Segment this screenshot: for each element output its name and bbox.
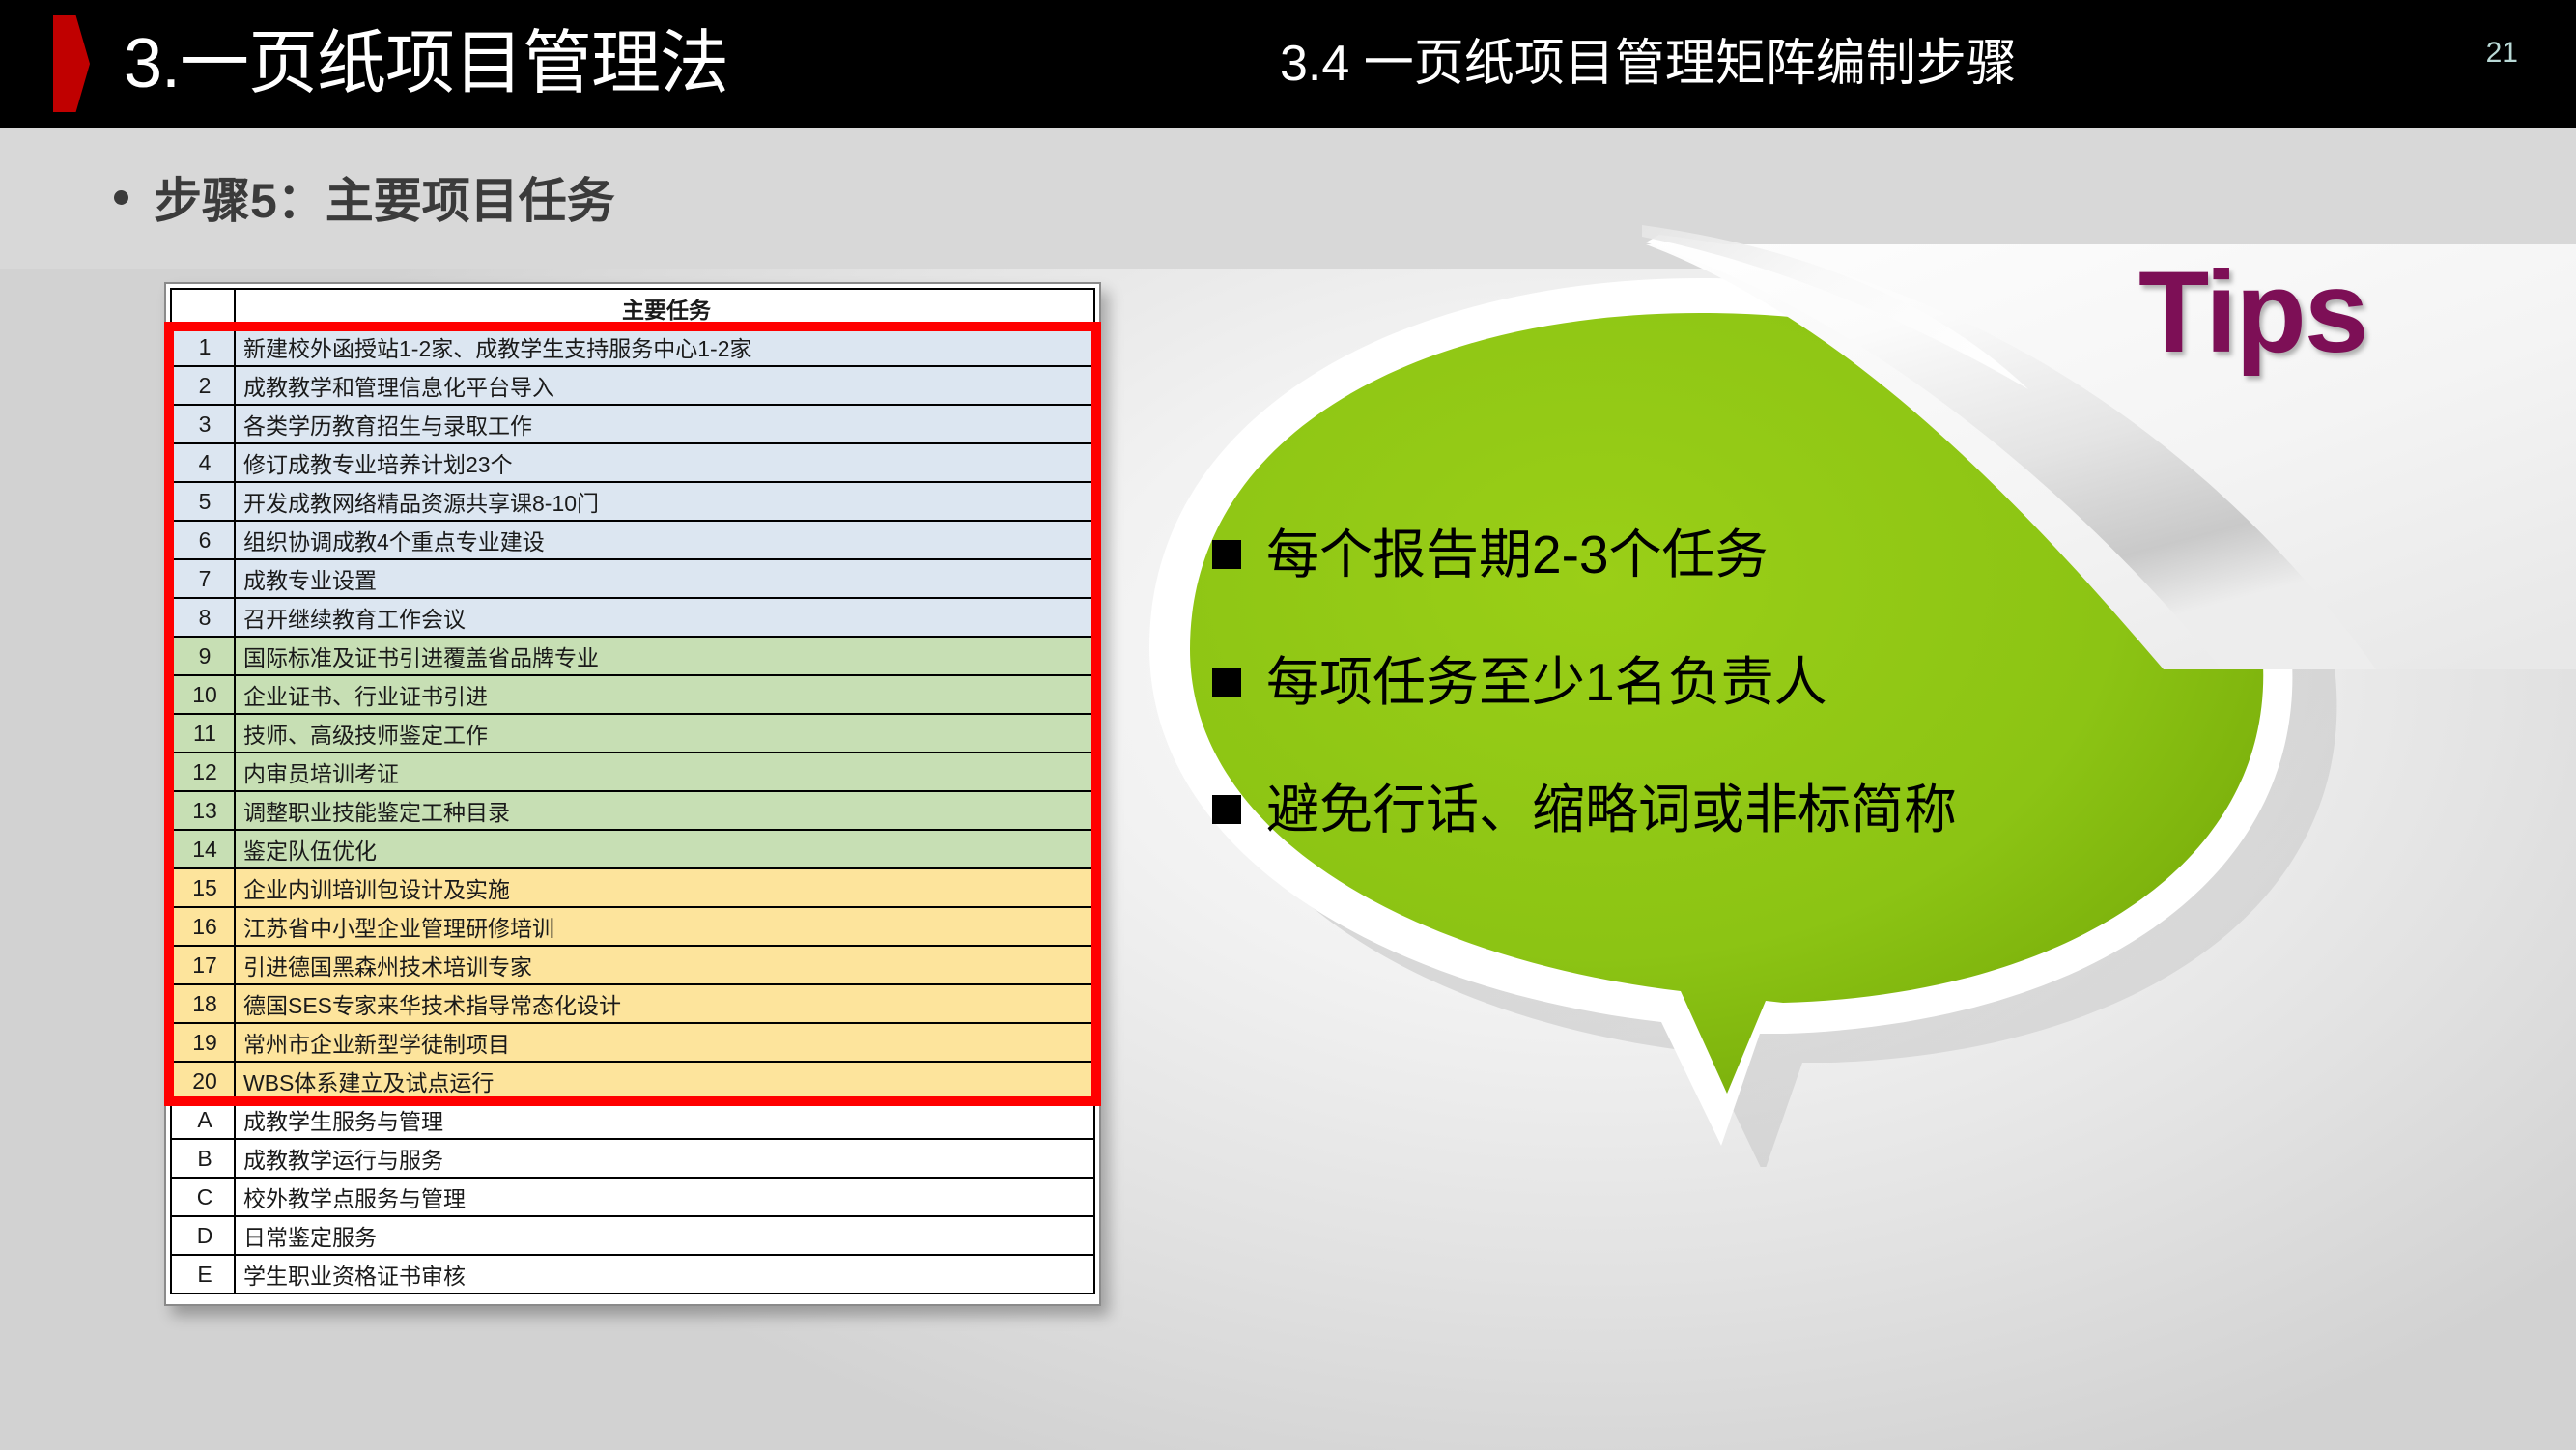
table-cell-task: 召开继续教育工作会议 <box>235 598 1094 637</box>
table-row: 7成教专业设置 <box>171 559 1094 598</box>
table-row: 11技师、高级技师鉴定工作 <box>171 714 1094 753</box>
table-row-index: 17 <box>171 946 235 984</box>
tips-list-item: 避免行话、缩略词或非标简称 <box>1212 746 2101 873</box>
table-cell-task: 校外教学点服务与管理 <box>235 1178 1094 1216</box>
section-title: 3.4 一页纸项目管理矩阵编制步骤 <box>1280 15 2017 112</box>
table-row-index: 10 <box>171 675 235 714</box>
table-row-index: A <box>171 1100 235 1139</box>
slide-header-bar: 3.一页纸项目管理法 3.4 一页纸项目管理矩阵编制步骤 21 <box>0 0 2576 128</box>
table-cell-task: 成教教学和管理信息化平台导入 <box>235 366 1094 405</box>
slide-canvas: 3.一页纸项目管理法 3.4 一页纸项目管理矩阵编制步骤 21 步骤5：主要项目… <box>0 0 2576 1450</box>
table-row-index: 13 <box>171 791 235 830</box>
table-row-index: 9 <box>171 637 235 675</box>
tips-item-label: 避免行话、缩略词或非标简称 <box>1266 746 1957 873</box>
table-row: 14鉴定队伍优化 <box>171 830 1094 868</box>
tips-list-item: 每项任务至少1名负责人 <box>1212 618 2101 746</box>
table-row: E学生职业资格证书审核 <box>171 1255 1094 1294</box>
table-row-index: C <box>171 1178 235 1216</box>
table-row-index: 8 <box>171 598 235 637</box>
table-cell-task: 修订成教专业培养计划23个 <box>235 443 1094 482</box>
table-cell-task: WBS体系建立及试点运行 <box>235 1062 1094 1100</box>
table-cell-task: 成教教学运行与服务 <box>235 1139 1094 1178</box>
table-cell-task: 成教专业设置 <box>235 559 1094 598</box>
table-cell-task: 各类学历教育招生与录取工作 <box>235 405 1094 443</box>
tips-speech-bubble: 每个报告期2-3个任务 每项任务至少1名负责人 避免行话、缩略词或非标简称 <box>1005 269 2386 1167</box>
table-corner-cell <box>171 289 235 327</box>
table-cell-task: 国际标准及证书引进覆盖省品牌专业 <box>235 637 1094 675</box>
table-cell-task: 内审员培训考证 <box>235 753 1094 791</box>
table-row: 2成教教学和管理信息化平台导入 <box>171 366 1094 405</box>
table-row: B成教教学运行与服务 <box>171 1139 1094 1178</box>
step-heading-label: 步骤5：主要项目任务 <box>154 162 615 232</box>
table-row-index: 6 <box>171 521 235 559</box>
table-row: 10企业证书、行业证书引进 <box>171 675 1094 714</box>
table-cell-task: 江苏省中小型企业管理研修培训 <box>235 907 1094 946</box>
table-row: 17引进德国黑森州技术培训专家 <box>171 946 1094 984</box>
table-row-index: 12 <box>171 753 235 791</box>
table-row: A成教学生服务与管理 <box>171 1100 1094 1139</box>
table-row-index: 15 <box>171 868 235 907</box>
table-row-index: 4 <box>171 443 235 482</box>
tips-list-item: 每个报告期2-3个任务 <box>1212 491 2101 618</box>
column-header-main-task: 主要任务 <box>235 289 1094 327</box>
filled-square-bullet-icon <box>1212 795 1241 824</box>
task-table-image: 主要任务 1新建校外函授站1-2家、成教学生支持服务中心1-2家2成教教学和管理… <box>164 282 1101 1306</box>
page-title: 3.一页纸项目管理法 <box>124 8 728 121</box>
table-row-index: B <box>171 1139 235 1178</box>
table-row-index: 3 <box>171 405 235 443</box>
table-row-index: 18 <box>171 984 235 1023</box>
filled-square-bullet-icon <box>1212 668 1241 697</box>
red-arrow-flag-icon <box>53 15 90 112</box>
table-row-index: 5 <box>171 482 235 521</box>
bullet-dot-icon <box>114 190 128 205</box>
table-row-index: E <box>171 1255 235 1294</box>
table-cell-task: 调整职业技能鉴定工种目录 <box>235 791 1094 830</box>
table-row: 13调整职业技能鉴定工种目录 <box>171 791 1094 830</box>
table-row: 15企业内训培训包设计及实施 <box>171 868 1094 907</box>
table-row: D日常鉴定服务 <box>171 1216 1094 1255</box>
tips-item-label: 每个报告期2-3个任务 <box>1266 491 1769 618</box>
table-row: 1新建校外函授站1-2家、成教学生支持服务中心1-2家 <box>171 327 1094 366</box>
table-row-index: 11 <box>171 714 235 753</box>
table-row-index: 20 <box>171 1062 235 1100</box>
table-row: 6组织协调成教4个重点专业建设 <box>171 521 1094 559</box>
table-cell-task: 德国SES专家来华技术指导常态化设计 <box>235 984 1094 1023</box>
table-row: 12内审员培训考证 <box>171 753 1094 791</box>
table-cell-task: 企业证书、行业证书引进 <box>235 675 1094 714</box>
table-row-index: 2 <box>171 366 235 405</box>
step-heading: 步骤5：主要项目任务 <box>114 162 615 232</box>
table-row: 9国际标准及证书引进覆盖省品牌专业 <box>171 637 1094 675</box>
table-row: 8召开继续教育工作会议 <box>171 598 1094 637</box>
table-row-index: D <box>171 1216 235 1255</box>
table-row: 20WBS体系建立及试点运行 <box>171 1062 1094 1100</box>
filled-square-bullet-icon <box>1212 540 1241 569</box>
page-number: 21 <box>2486 37 2518 70</box>
table-cell-task: 企业内训培训包设计及实施 <box>235 868 1094 907</box>
table-cell-task: 日常鉴定服务 <box>235 1216 1094 1255</box>
table-row: 3各类学历教育招生与录取工作 <box>171 405 1094 443</box>
table-row: C校外教学点服务与管理 <box>171 1178 1094 1216</box>
table-cell-task: 新建校外函授站1-2家、成教学生支持服务中心1-2家 <box>235 327 1094 366</box>
table-cell-task: 技师、高级技师鉴定工作 <box>235 714 1094 753</box>
table-header-row: 主要任务 <box>171 289 1094 327</box>
table-cell-task: 学生职业资格证书审核 <box>235 1255 1094 1294</box>
task-table: 主要任务 1新建校外函授站1-2家、成教学生支持服务中心1-2家2成教教学和管理… <box>170 288 1095 1294</box>
table-cell-task: 引进德国黑森州技术培训专家 <box>235 946 1094 984</box>
tips-item-label: 每项任务至少1名负责人 <box>1266 618 1827 746</box>
tips-heading: Tips <box>2138 249 2367 375</box>
table-cell-task: 成教学生服务与管理 <box>235 1100 1094 1139</box>
table-row-index: 19 <box>171 1023 235 1062</box>
table-row-index: 14 <box>171 830 235 868</box>
table-row-index: 1 <box>171 327 235 366</box>
table-cell-task: 开发成教网络精品资源共享课8-10门 <box>235 482 1094 521</box>
tips-list: 每个报告期2-3个任务 每项任务至少1名负责人 避免行话、缩略词或非标简称 <box>1212 491 2101 873</box>
table-row: 18德国SES专家来华技术指导常态化设计 <box>171 984 1094 1023</box>
table-row-index: 7 <box>171 559 235 598</box>
table-cell-task: 鉴定队伍优化 <box>235 830 1094 868</box>
table-cell-task: 常州市企业新型学徒制项目 <box>235 1023 1094 1062</box>
table-row: 5开发成教网络精品资源共享课8-10门 <box>171 482 1094 521</box>
table-row: 4修订成教专业培养计划23个 <box>171 443 1094 482</box>
table-row-index: 16 <box>171 907 235 946</box>
table-row: 19常州市企业新型学徒制项目 <box>171 1023 1094 1062</box>
table-cell-task: 组织协调成教4个重点专业建设 <box>235 521 1094 559</box>
table-row: 16江苏省中小型企业管理研修培训 <box>171 907 1094 946</box>
